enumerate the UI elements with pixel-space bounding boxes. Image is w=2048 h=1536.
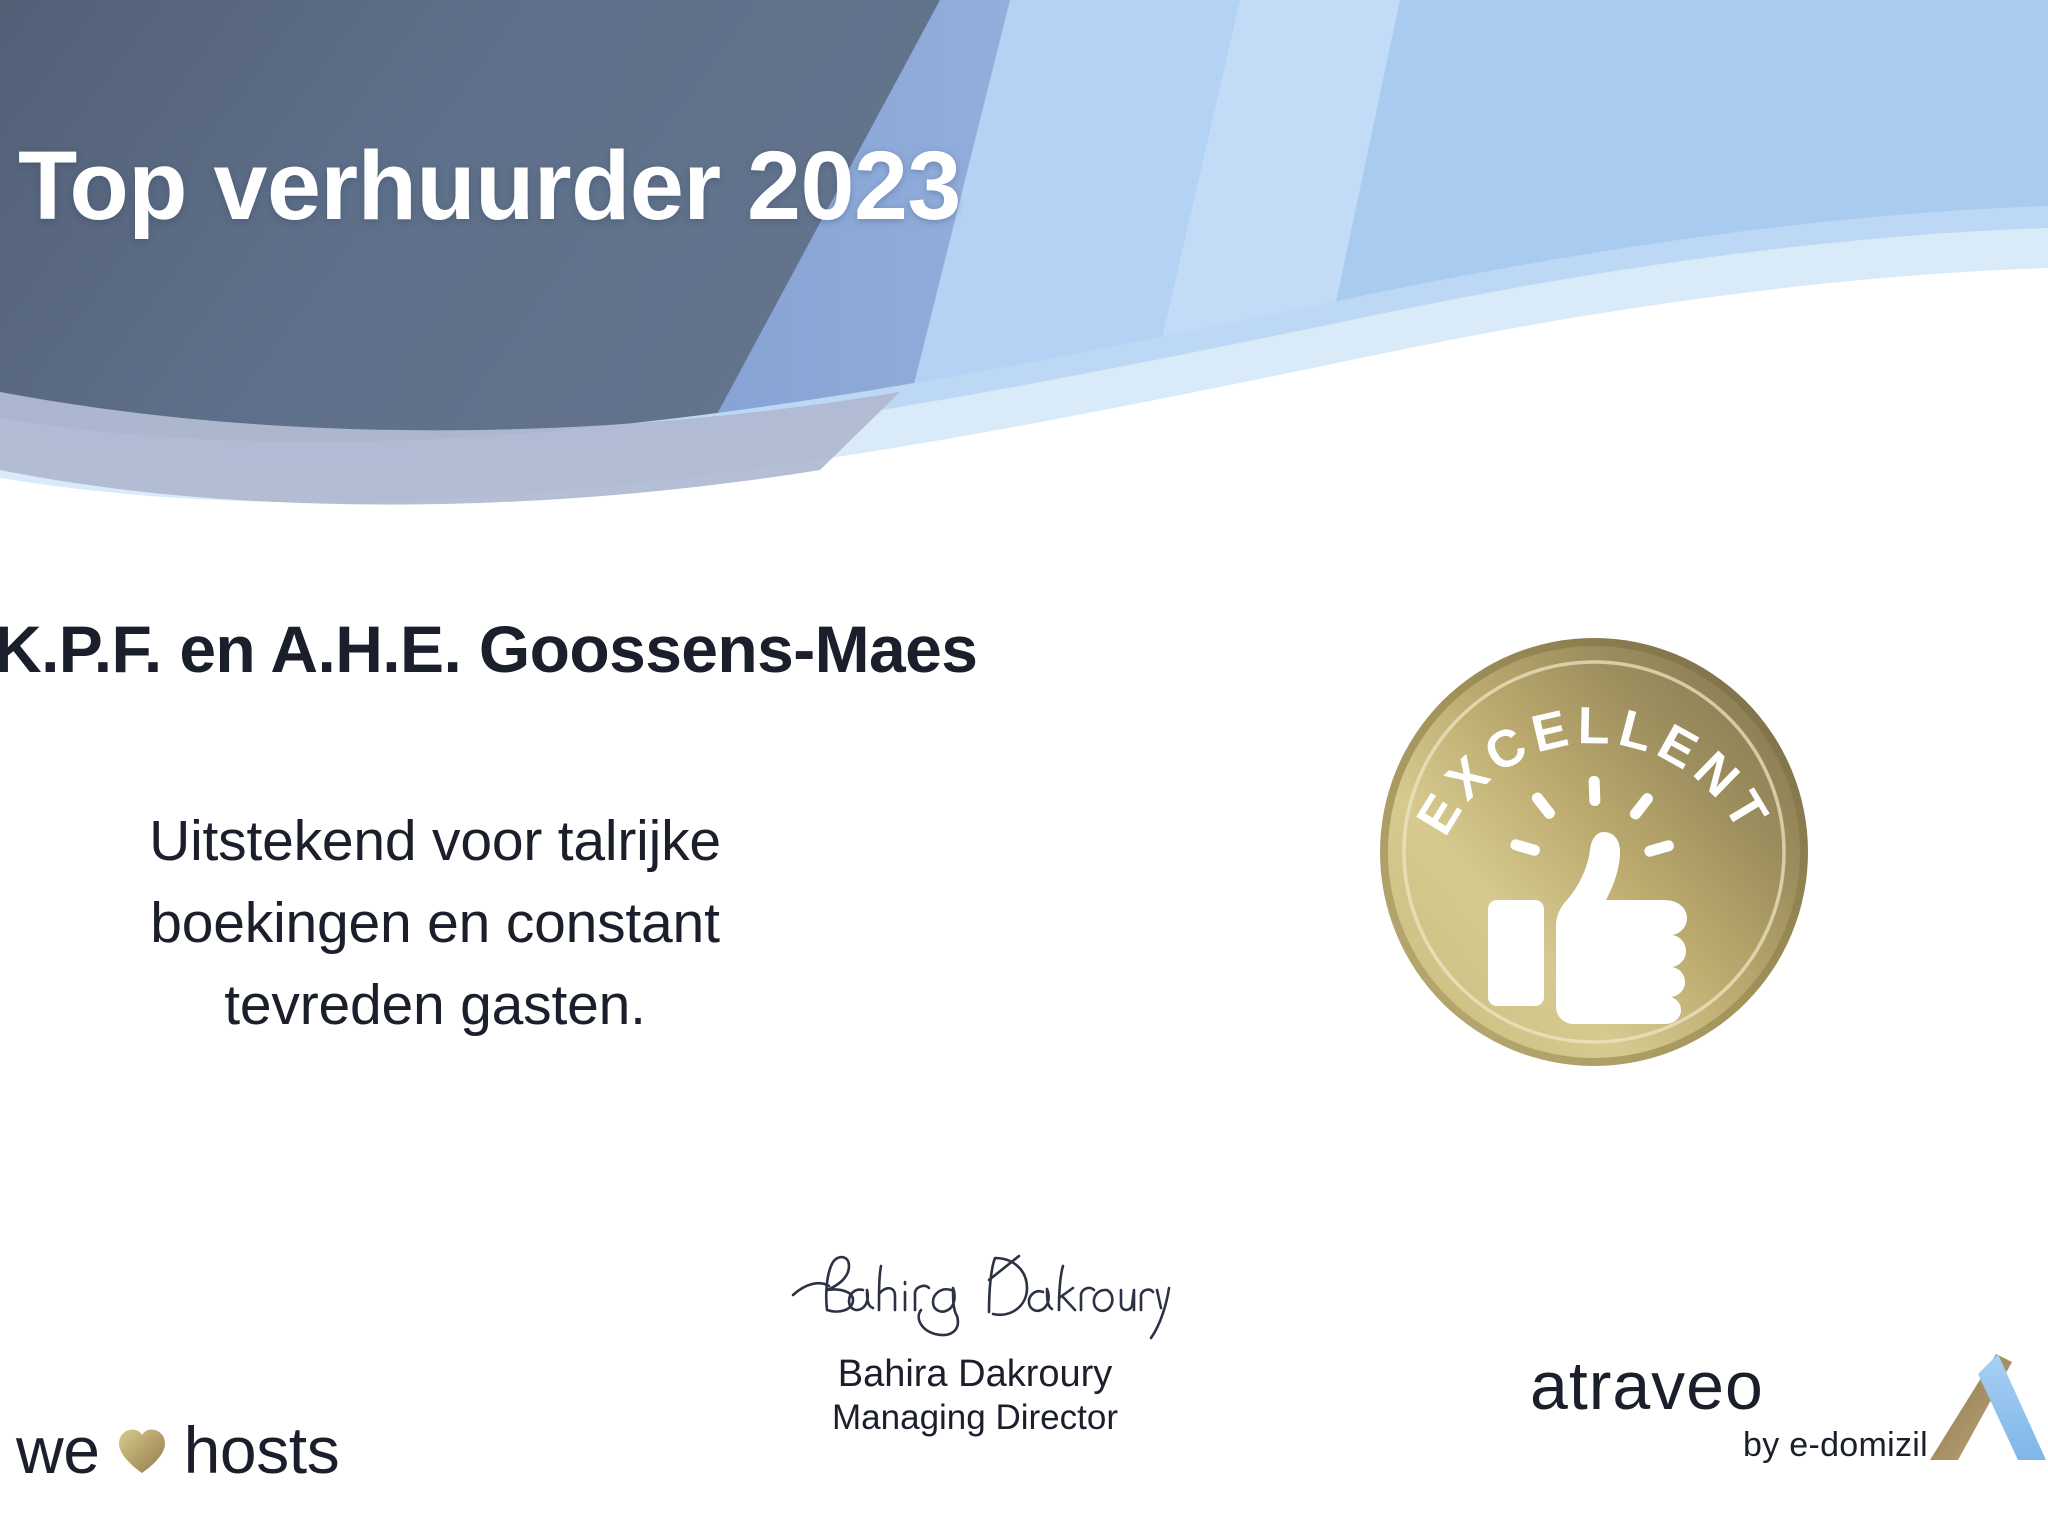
signer-title: Managing Director — [730, 1397, 1220, 1440]
recipient-name: K.P.F. en A.H.E. Goossens-Maes — [0, 611, 977, 687]
signature-mark-icon — [775, 1240, 1175, 1345]
certificate-title: Top verhuurder 2023 — [18, 137, 961, 234]
citation-line-2: boekingen en constant — [0, 882, 870, 964]
house-roof-icon — [1920, 1350, 2048, 1468]
heart-icon — [116, 1426, 168, 1478]
atraveo-logo-text: atraveo by e-domizil — [1530, 1352, 1930, 1462]
citation-line-1: Uitstekend voor talrijke — [0, 800, 870, 882]
certificate-page: Top verhuurder 2023 K.P.F. en A.H.E. Goo… — [0, 0, 2048, 1536]
we-love-hosts-logo: we hosts — [16, 1412, 339, 1488]
signer-name: Bahira Dakroury — [730, 1351, 1220, 1397]
header-wave-artwork — [0, 0, 2048, 520]
roof-slope-right — [1978, 1354, 2046, 1460]
signature-block: Bahira Dakroury Managing Director — [730, 1240, 1220, 1440]
atraveo-subtitle: by e-domizil — [1530, 1428, 1930, 1462]
citation-text: Uitstekend voor talrijke boekingen en co… — [0, 800, 870, 1046]
wehosts-word-after: hosts — [184, 1412, 340, 1488]
excellent-seal-badge: EXCELLENT — [1368, 626, 1820, 1078]
atraveo-logo: atraveo by e-domizil — [1530, 1352, 2040, 1492]
wehosts-word-before: we — [16, 1412, 100, 1488]
citation-line-3: tevreden gasten. — [0, 964, 870, 1046]
atraveo-wordmark: atraveo — [1530, 1352, 1930, 1420]
